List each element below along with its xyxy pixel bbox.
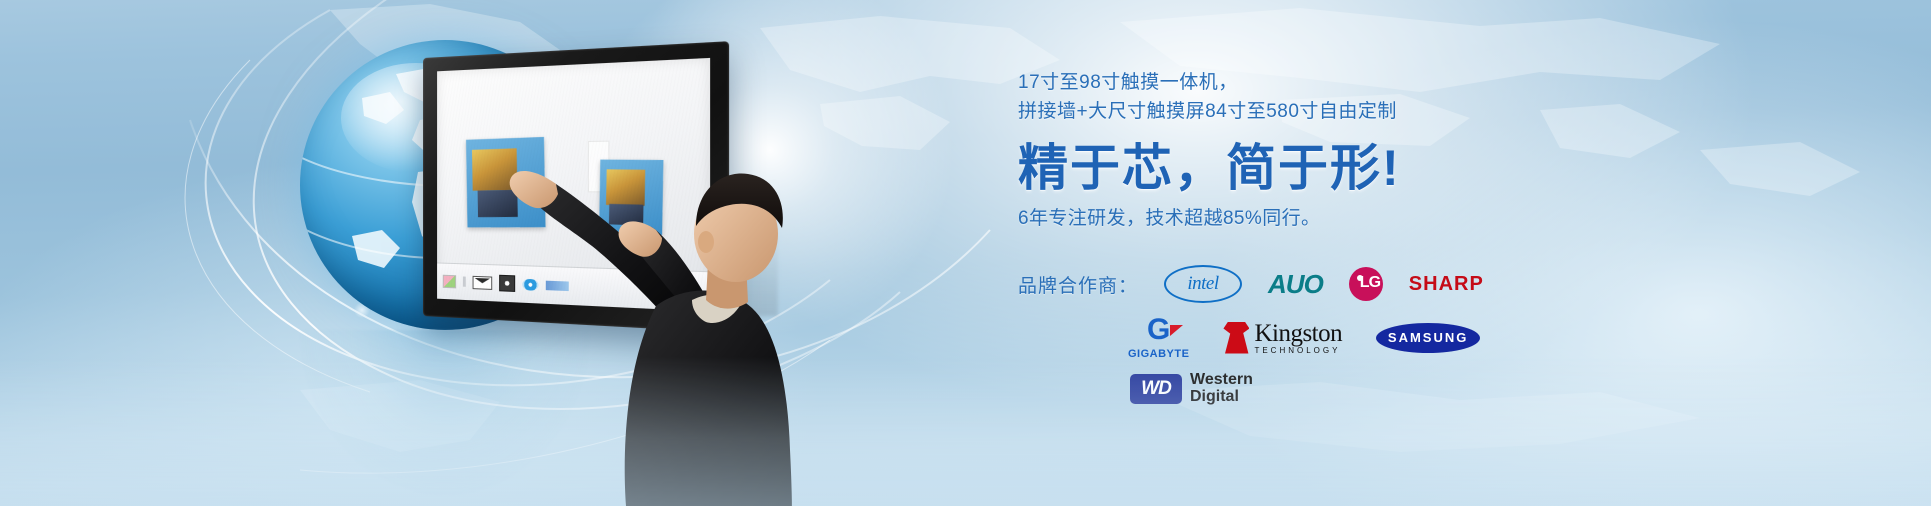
tagline-line-1: 17寸至98寸触摸一体机， — [1018, 68, 1578, 97]
kingston-logo[interactable]: Kingston TECHNOLOGY — [1223, 321, 1342, 355]
promo-banner: 17寸至98寸触摸一体机， 拼接墙+大尺寸触摸屏84寸至580寸自由定制 精于芯… — [0, 0, 1931, 506]
auo-logo[interactable]: AUO — [1268, 269, 1323, 300]
person-touching-screen — [470, 150, 800, 506]
separator-icon — [463, 277, 466, 287]
subtitle: 6年专注研发，技术超越85%同行。 — [1018, 203, 1578, 230]
samsung-logo[interactable]: SAMSUNG — [1376, 323, 1480, 353]
sharp-logo[interactable]: SHARP — [1409, 273, 1484, 296]
wd-mark: WD — [1130, 374, 1182, 404]
gigabyte-mark: G — [1147, 315, 1170, 345]
brand-partners: 品牌合作商： intel AUO LG SHARP G GIGABYTE Kin… — [1018, 265, 1638, 418]
headline-block: 17寸至98寸触摸一体机， 拼接墙+大尺寸触摸屏84寸至580寸自由定制 精于芯… — [1018, 68, 1578, 230]
page-title: 精于芯，简于形! — [1018, 141, 1578, 195]
kingston-mark — [1223, 322, 1249, 354]
color-squares-icon[interactable] — [443, 275, 456, 289]
western-digital-logo[interactable]: WD Western Digital — [1130, 372, 1253, 406]
intel-logo[interactable]: intel — [1164, 265, 1242, 303]
tagline-line-2: 拼接墙+大尺寸触摸屏84寸至580寸自由定制 — [1018, 97, 1578, 126]
lg-logo[interactable]: LG — [1349, 267, 1383, 301]
gigabyte-logo[interactable]: G GIGABYTE — [1128, 315, 1189, 360]
partners-label: 品牌合作商： — [1018, 271, 1138, 298]
